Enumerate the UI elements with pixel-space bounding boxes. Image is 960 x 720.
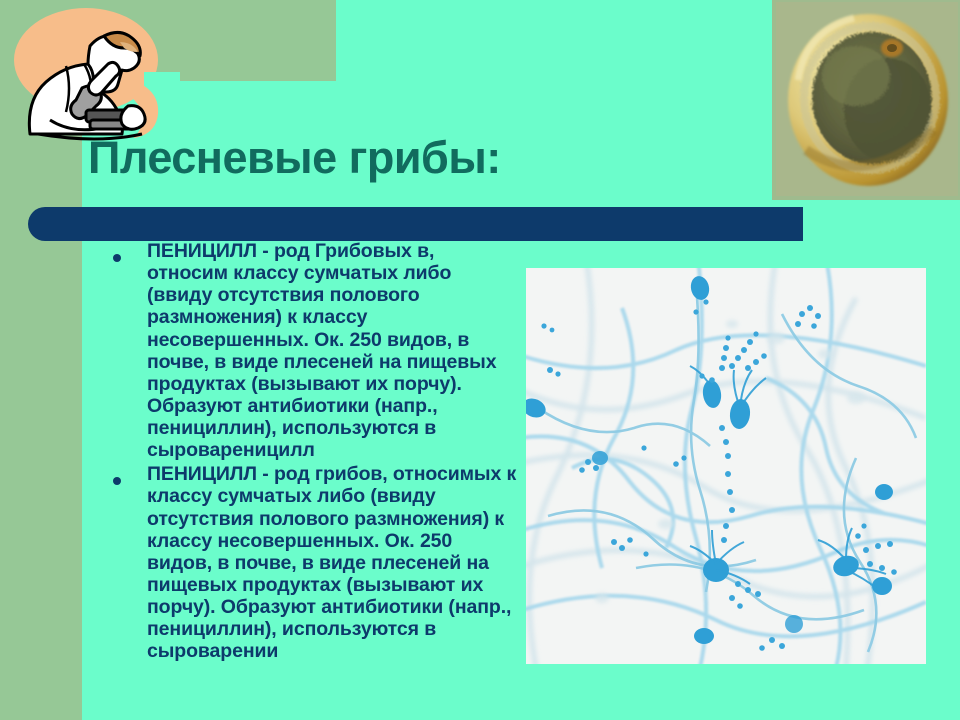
bullet-dot-icon xyxy=(113,463,147,490)
bullet-text: ПЕНИЦИЛЛ - род грибов, относимых к класс… xyxy=(147,463,518,662)
title-underline-banner xyxy=(28,207,803,241)
bullet-list: ПЕНИЦИЛЛ - род Грибовых в, относим класс… xyxy=(113,240,518,664)
penicillium-micrograph xyxy=(526,268,926,664)
presentation-slide: Плесневые грибы: ПЕНИЦИЛЛ - род Грибовых… xyxy=(0,0,960,720)
moldy-citrus-photo xyxy=(776,2,958,196)
scientist-at-microscope-clipart xyxy=(4,2,180,142)
page-title: Плесневые грибы: xyxy=(88,134,788,181)
bullet-dot-icon xyxy=(113,240,147,267)
list-item: ПЕНИЦИЛЛ - род Грибовых в, относим класс… xyxy=(113,240,518,461)
bullet-text: ПЕНИЦИЛЛ - род Грибовых в, относим класс… xyxy=(147,240,518,461)
list-item: ПЕНИЦИЛЛ - род грибов, относимых к класс… xyxy=(113,463,518,662)
